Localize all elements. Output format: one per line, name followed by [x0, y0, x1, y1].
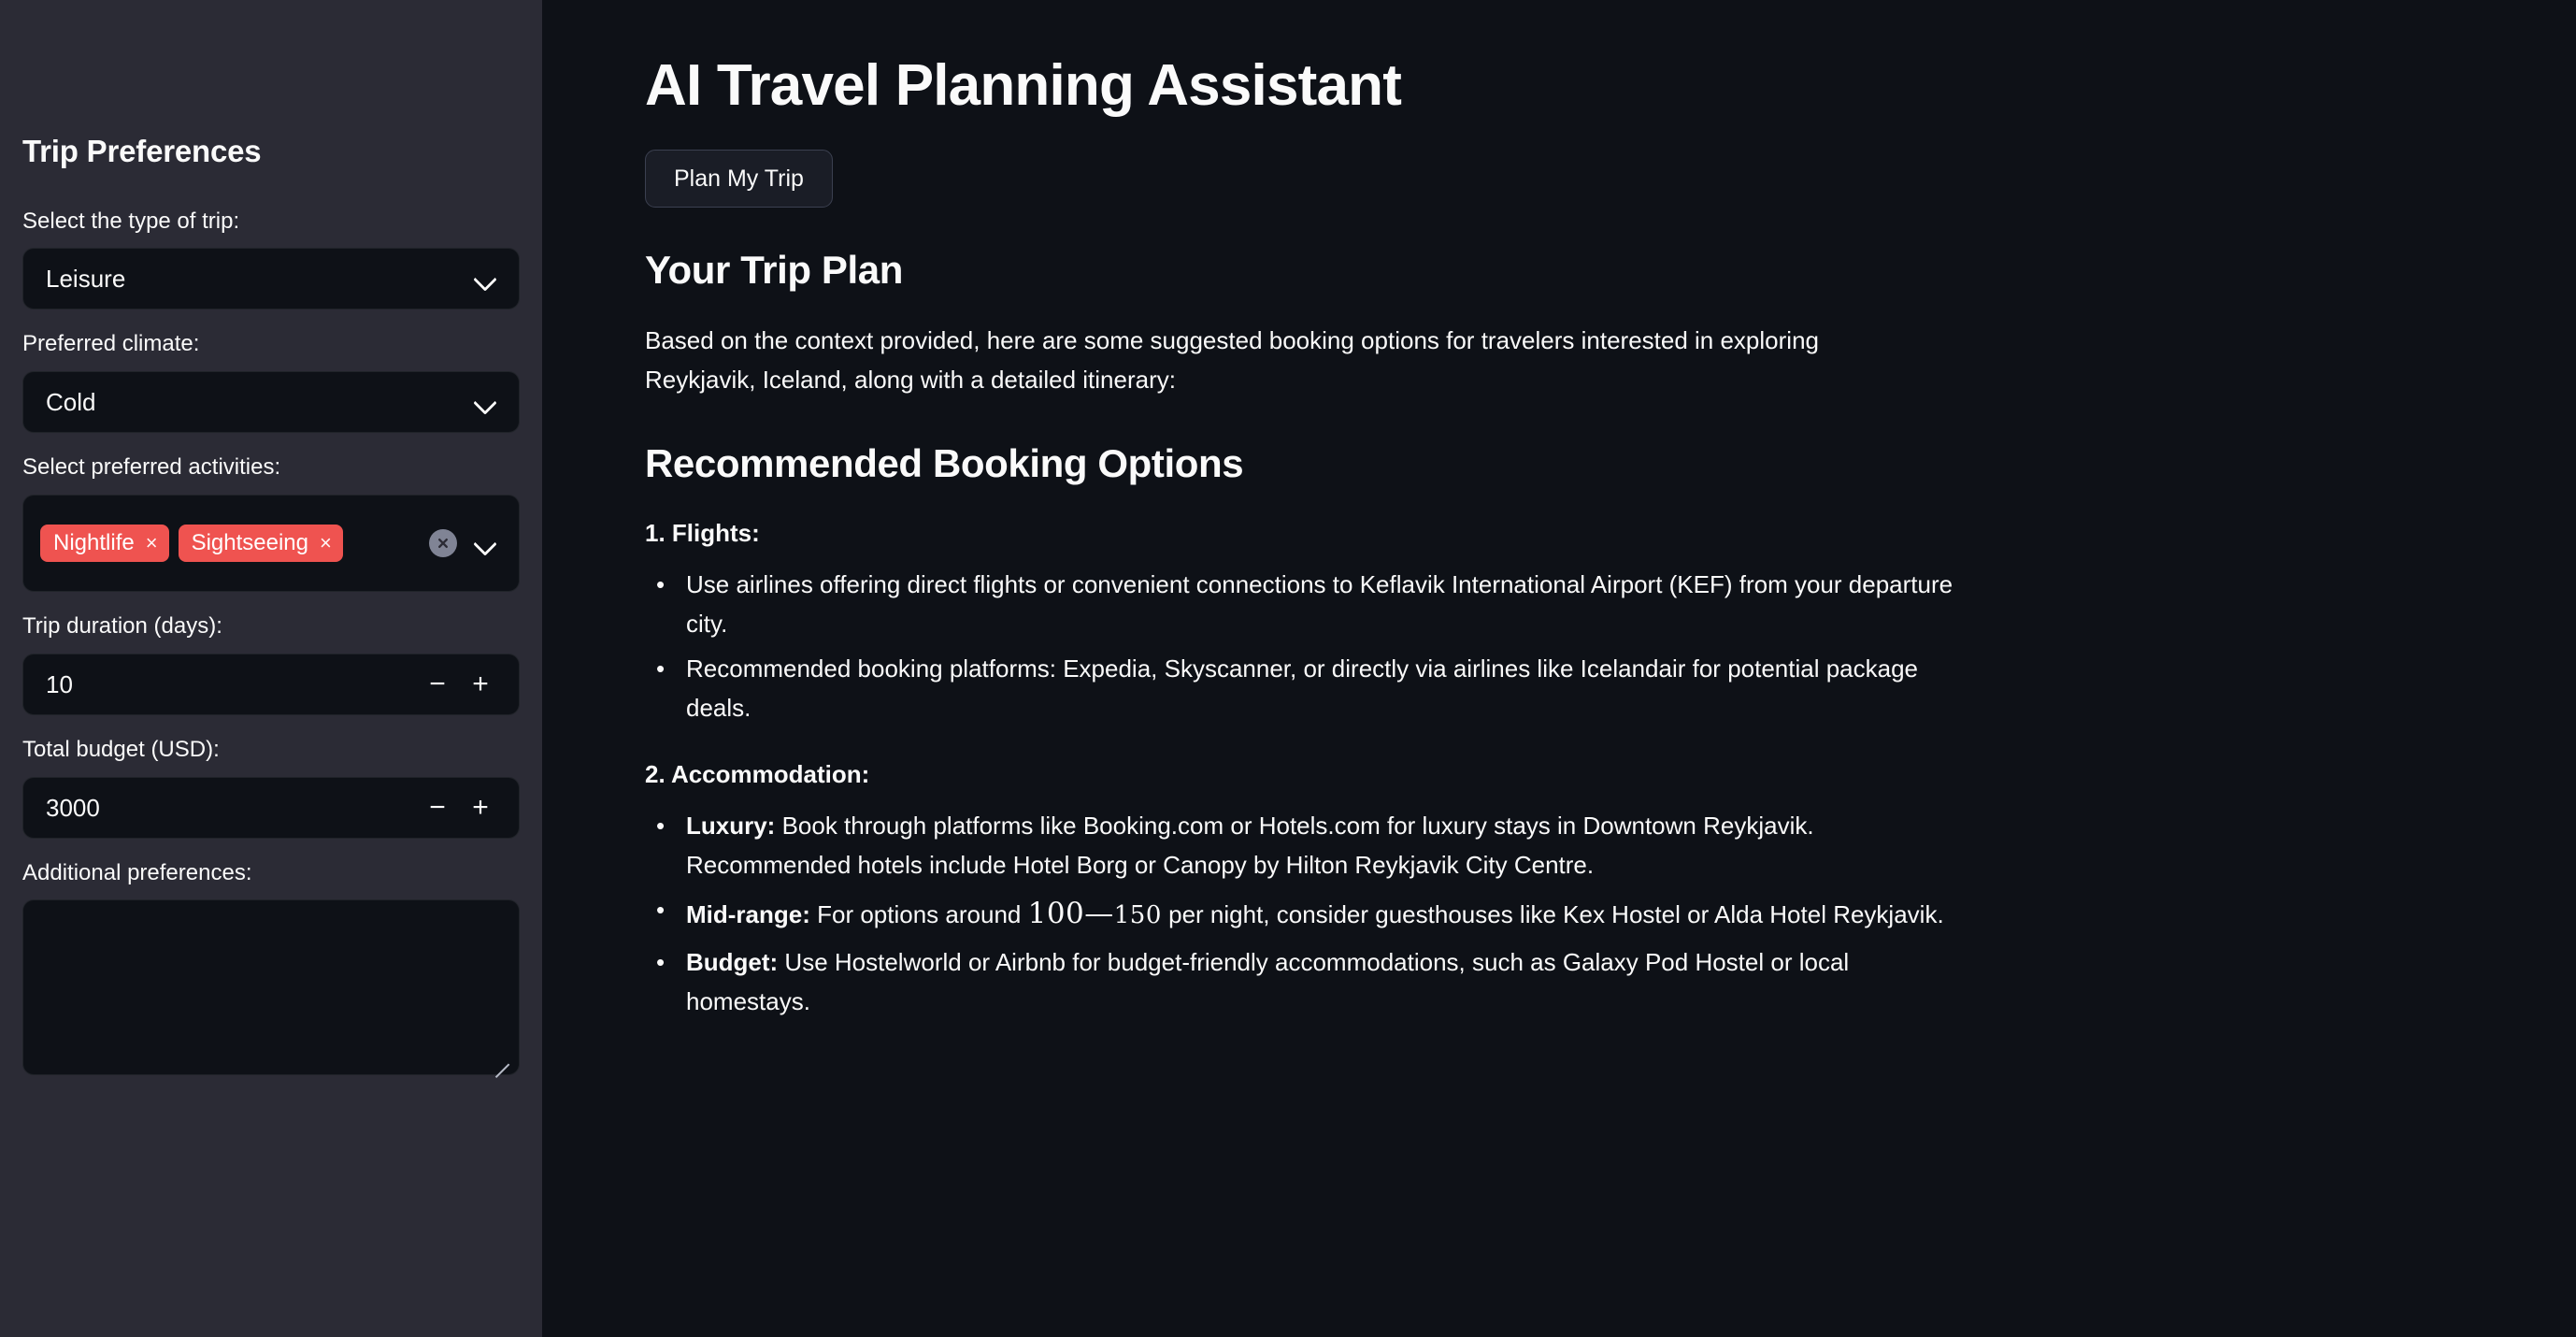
plan-my-trip-button[interactable]: Plan My Trip [645, 150, 833, 208]
field-trip-type: Select the type of trip: Leisure [22, 206, 520, 310]
sidebar: Trip Preferences Select the type of trip… [0, 0, 542, 1337]
chip-remove-icon[interactable]: × [146, 533, 158, 553]
total-budget-label: Total budget (USD): [22, 734, 520, 767]
bullet-text: Use airlines offering direct flights or … [686, 570, 1953, 638]
field-climate: Preferred climate: Cold [22, 328, 520, 433]
chevron-down-icon [472, 266, 498, 292]
trip-duration-label: Trip duration (days): [22, 611, 520, 643]
section-accommodation-label: 2. Accommodation: [645, 756, 2028, 793]
list-item: Use airlines offering direct flights or … [645, 565, 1972, 643]
bullet-lead: Luxury: [686, 812, 775, 840]
list-item: Mid-range: For options around 100—150 pe… [645, 890, 1972, 937]
total-budget-stepper[interactable]: 3000 − + [22, 777, 520, 839]
trip-type-select[interactable]: Leisure [22, 248, 520, 309]
trip-type-value: Leisure [46, 266, 472, 291]
climate-select[interactable]: Cold [22, 371, 520, 433]
list-item: Budget: Use Hostelworld or Airbnb for bu… [645, 942, 1972, 1021]
total-budget-value[interactable]: 3000 [46, 796, 416, 820]
field-activities: Select preferred activities: Nightlife ×… [22, 452, 520, 592]
trip-duration-value[interactable]: 10 [46, 672, 416, 697]
additional-preferences-textarea[interactable] [22, 899, 520, 1075]
main-content: AI Travel Planning Assistant Plan My Tri… [542, 0, 2576, 1337]
trip-duration-increment-button[interactable]: + [459, 663, 502, 706]
booking-options-heading: Recommended Booking Options [645, 440, 2028, 487]
resize-handle-icon[interactable] [494, 1050, 510, 1067]
activity-chip-label: Sightseeing [192, 532, 308, 554]
price-range-math: 100—150 [1028, 897, 1162, 930]
flights-bullet-list: Use airlines offering direct flights or … [645, 565, 2028, 727]
additional-preferences-label: Additional preferences: [22, 857, 520, 890]
list-item: Luxury: Book through platforms like Book… [645, 806, 1972, 884]
app-root: Trip Preferences Select the type of trip… [0, 0, 2576, 1337]
chevron-down-icon[interactable] [472, 530, 498, 556]
price-math-dash: — [1084, 897, 1114, 930]
field-trip-duration: Trip duration (days): 10 − + [22, 611, 520, 715]
bullet-text: Use Hostelworld or Airbnb for budget-fri… [686, 948, 1849, 1015]
bullet-lead: Budget: [686, 948, 778, 976]
price-math-upper: 150 [1114, 901, 1162, 929]
field-additional-preferences: Additional preferences: [22, 857, 520, 1076]
activity-chip-label: Nightlife [53, 532, 135, 554]
list-item: Recommended booking platforms: Expedia, … [645, 649, 1972, 727]
activities-multiselect[interactable]: Nightlife × Sightseeing × [22, 495, 520, 592]
activities-label: Select preferred activities: [22, 452, 520, 484]
clear-circle-x-icon[interactable] [429, 529, 457, 557]
bullet-text-after-math: per night, consider guesthouses like Kex… [1162, 900, 1944, 928]
chip-remove-icon[interactable]: × [320, 533, 332, 553]
trip-type-label: Select the type of trip: [22, 206, 520, 238]
activity-chip[interactable]: Sightseeing × [179, 525, 343, 562]
accommodation-bullet-list: Luxury: Book through platforms like Book… [645, 806, 2028, 1022]
sidebar-title: Trip Preferences [22, 133, 520, 170]
multiselect-actions [420, 529, 498, 557]
bullet-text: Recommended booking platforms: Expedia, … [686, 654, 1918, 722]
section-flights-label: 1. Flights: [645, 515, 2028, 552]
trip-plan-heading: Your Trip Plan [645, 247, 2028, 294]
trip-duration-decrement-button[interactable]: − [416, 663, 459, 706]
field-total-budget: Total budget (USD): 3000 − + [22, 734, 520, 839]
chevron-down-icon [472, 389, 498, 415]
climate-label: Preferred climate: [22, 328, 520, 361]
total-budget-increment-button[interactable]: + [459, 786, 502, 829]
intro-paragraph: Based on the context provided, here are … [645, 321, 1916, 399]
page-title: AI Travel Planning Assistant [645, 51, 2028, 120]
climate-value: Cold [46, 390, 472, 414]
bullet-lead: Mid-range: [686, 900, 810, 928]
activity-chip[interactable]: Nightlife × [40, 525, 169, 562]
price-math-lower: 100 [1028, 897, 1085, 930]
bullet-text-before-math: For options around [810, 900, 1028, 928]
activity-chip-list: Nightlife × Sightseeing × [40, 525, 420, 562]
bullet-text: Book through platforms like Booking.com … [686, 812, 1814, 879]
trip-duration-stepper[interactable]: 10 − + [22, 654, 520, 715]
total-budget-decrement-button[interactable]: − [416, 786, 459, 829]
